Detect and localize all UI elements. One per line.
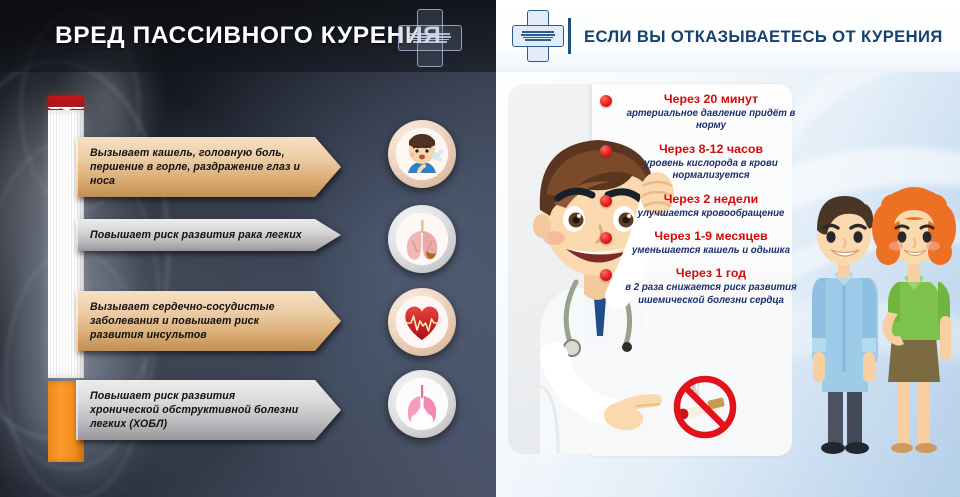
risk-item: Вызывает кашель, головную боль, першение… <box>76 137 341 197</box>
heart-ecg-svg <box>396 296 448 348</box>
risk-label: Повышает риск развития хронической обстр… <box>90 389 307 431</box>
public-health-center-cross-logo <box>512 10 564 62</box>
bullet-dot-icon <box>600 269 612 281</box>
risk-label: Вызывает сердечно-сосудистые заболевания… <box>90 300 307 342</box>
benefit-time: Через 1-9 месяцев <box>624 229 798 244</box>
bullet-dot-icon <box>600 195 612 207</box>
benefit-description: улучшается кровообращение <box>624 208 798 220</box>
bullet-dot-icon <box>600 95 612 107</box>
benefit-time: Через 20 минут <box>624 92 798 107</box>
benefit-item: Через 2 недели улучшается кровообращение <box>600 192 798 220</box>
diseased-lungs-svg <box>396 213 448 265</box>
risk-item: Повышает риск развития хронической обстр… <box>76 380 341 440</box>
benefit-description: в 2 раза снижается риск развития ишемиче… <box>624 282 798 307</box>
risk-banner: Вызывает кашель, головную боль, першение… <box>76 137 341 197</box>
bullet-dot-icon <box>600 145 612 157</box>
copd-lungs-icon <box>388 370 456 438</box>
coughing-child-icon <box>388 120 456 188</box>
risk-label: Вызывает кашель, головную боль, першение… <box>90 146 307 188</box>
man-figure <box>812 196 878 454</box>
public-health-center-cross-logo <box>398 9 462 67</box>
benefit-time: Через 1 год <box>624 266 798 281</box>
risk-banner: Вызывает сердечно-сосудистые заболевания… <box>76 291 341 351</box>
right-page-title: ЕСЛИ ВЫ ОТКАЗЫВАЕТЕСЬ ОТ КУРЕНИЯ <box>584 27 943 47</box>
no-smoking-sign <box>664 366 746 448</box>
risk-label: Повышает риск развития рака легких <box>90 228 307 242</box>
benefit-item: Через 1 год в 2 раза снижается риск разв… <box>600 266 798 307</box>
risk-banner: Повышает риск развития рака легких <box>76 219 341 251</box>
benefit-description: уменьшается кашель и одышка <box>624 245 798 257</box>
benefit-description: артериальное давление придёт в норму <box>624 108 798 133</box>
infographic-root: ВРЕД ПАССИВНОГО КУРЕНИЯ Вызывает кашель,… <box>0 0 960 497</box>
left-page-title: ВРЕД ПАССИВНОГО КУРЕНИЯ <box>55 22 441 50</box>
cigarette-burning-tip <box>48 96 84 111</box>
woman-figure <box>872 187 956 453</box>
happy-couple-illustration <box>800 186 960 476</box>
diseased-lungs-icon <box>388 205 456 273</box>
copd-lungs-svg <box>396 378 448 430</box>
quit-benefits-list: Через 20 минут артериальное давление при… <box>600 92 798 316</box>
risk-banner: Повышает риск развития хронической обстр… <box>76 380 341 440</box>
benefit-description: уровень кислорода в крови нормализуется <box>624 158 798 183</box>
logo-divider-bar <box>568 18 571 54</box>
risk-item: Повышает риск развития рака легких <box>76 219 341 251</box>
heart-ecg-icon <box>388 288 456 356</box>
coughing-child-svg <box>396 128 448 180</box>
risk-item: Вызывает сердечно-сосудистые заболевания… <box>76 291 341 351</box>
benefit-item: Через 20 минут артериальное давление при… <box>600 92 798 133</box>
bullet-dot-icon <box>600 232 612 244</box>
benefit-item: Через 1-9 месяцев уменьшается кашель и о… <box>600 229 798 257</box>
benefit-time: Через 2 недели <box>624 192 798 207</box>
left-panel-passive-smoking: ВРЕД ПАССИВНОГО КУРЕНИЯ Вызывает кашель,… <box>0 0 496 497</box>
benefit-item: Через 8-12 часов уровень кислорода в кро… <box>600 142 798 183</box>
benefit-time: Через 8-12 часов <box>624 142 798 157</box>
